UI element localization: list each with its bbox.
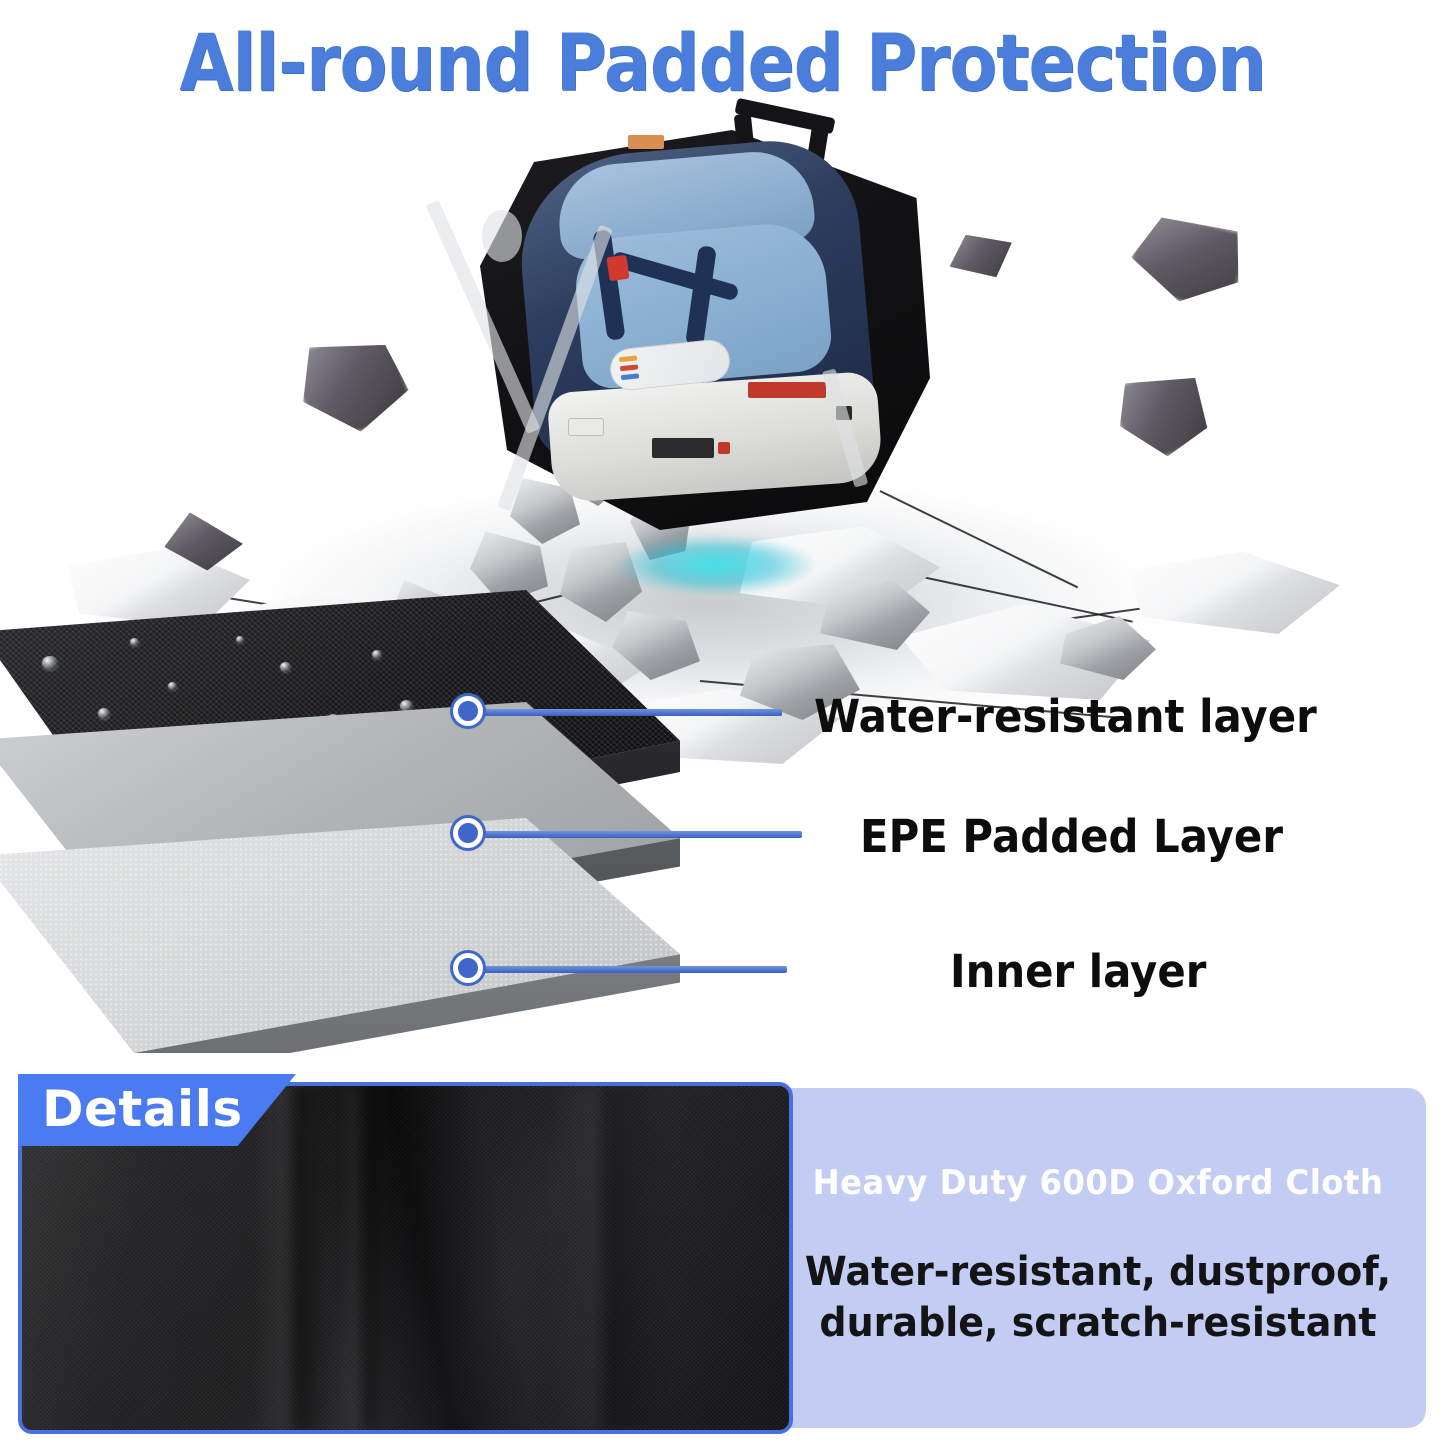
details-tag-label: Details [42, 1080, 243, 1138]
details-feature-line-1: Water-resistant, dustproof, [786, 1247, 1409, 1298]
details-text-panel: Heavy Duty 600D Oxford Cloth Water-resis… [770, 1088, 1426, 1428]
car-seat-in-travel-bag [440, 100, 960, 600]
callout-inner-layer[interactable] [453, 953, 788, 983]
debris-chunk [1124, 208, 1251, 314]
layer-inner-slab [0, 818, 680, 1053]
callout-label-inner-layer: Inner layer [950, 945, 1206, 998]
debris-chunk [288, 322, 417, 445]
harness-buckle [606, 255, 629, 282]
callout-marker-icon[interactable] [453, 696, 483, 726]
details-heading: Heavy Duty 600D Oxford Cloth [786, 1163, 1409, 1203]
callout-leader-line [477, 709, 782, 716]
callout-label-epe-padded: EPE Padded Layer [860, 810, 1283, 863]
callout-epe-padded[interactable] [453, 818, 803, 848]
bag-logo-tag [628, 135, 664, 149]
callout-label-water-resistant: Water-resistant layer [814, 690, 1317, 743]
callout-leader-line [477, 831, 802, 838]
page-title: All-round Padded Protection [43, 18, 1401, 109]
callout-marker-icon[interactable] [453, 953, 483, 983]
infographic-canvas: All-round Padded Protection [0, 0, 1445, 1445]
details-feature-line-2: durable, scratch-resistant [786, 1298, 1409, 1349]
callout-marker-icon[interactable] [453, 818, 483, 848]
callout-water-resistant[interactable] [453, 696, 783, 726]
callout-leader-line [477, 966, 787, 973]
